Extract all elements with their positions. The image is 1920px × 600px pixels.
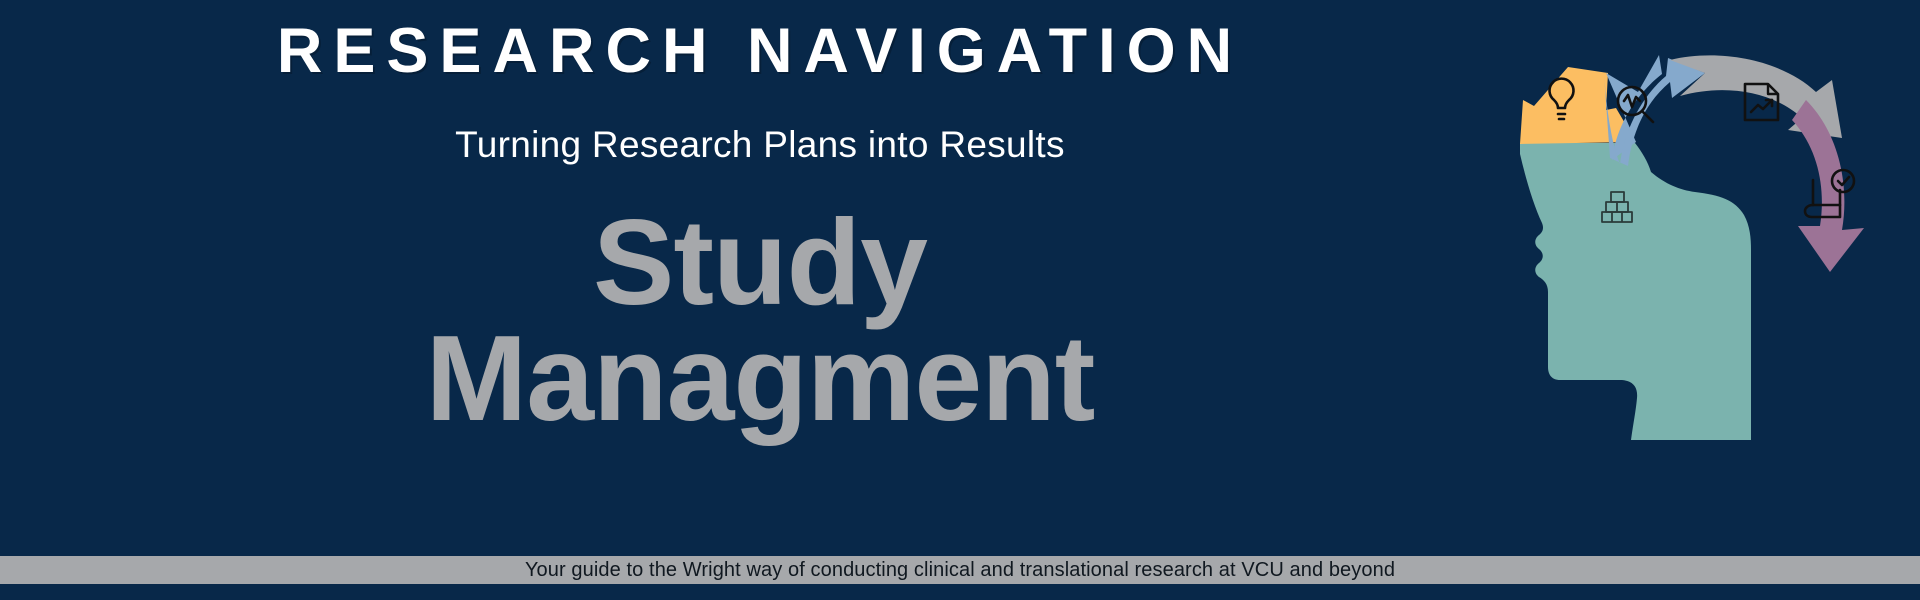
research-lifecycle-head-graphic [1520,40,1920,560]
page-title: Study Managment [0,205,1520,437]
banner-text-column: RESEARCH NAVIGATION Turning Research Pla… [0,0,1520,545]
page-title-line-1: Study [0,205,1520,321]
brand-tagline: Turning Research Plans into Results [0,124,1520,166]
head-silhouette [1520,143,1751,440]
footer-tagline: Your guide to the Wright way of conducti… [525,559,1395,582]
page-title-line-2: Managment [0,321,1520,437]
brand-title: RESEARCH NAVIGATION [0,18,1520,84]
research-navigation-banner: RESEARCH NAVIGATION Turning Research Pla… [0,0,1920,600]
cycle-segment-discovery [1604,55,1705,166]
footer-strip: Your guide to the Wright way of conducti… [0,556,1920,584]
